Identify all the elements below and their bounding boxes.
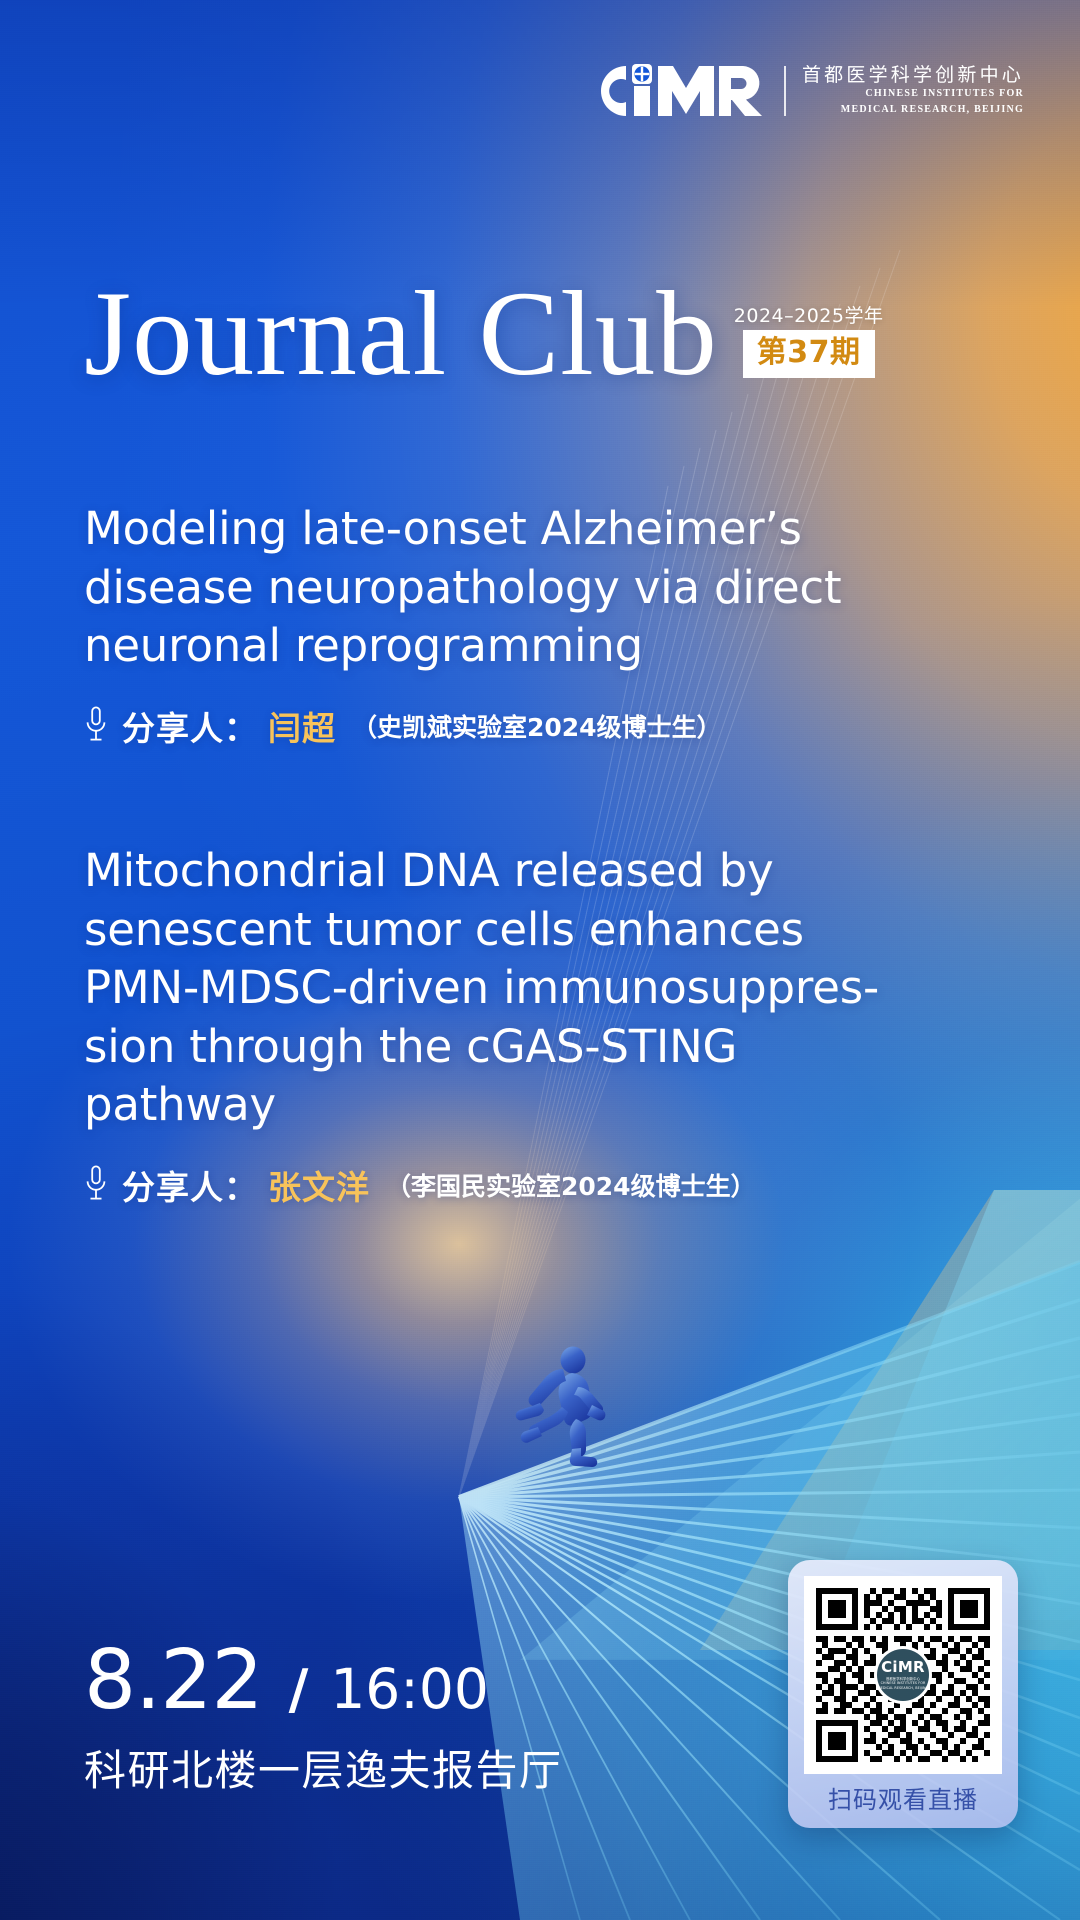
speaker-affiliation-2: （李国民实验室2024级博士生） <box>386 1167 756 1203</box>
speaker-row-1: 分享人： 闫超 （史凯斌实验室2024级博士生） <box>84 702 944 750</box>
qr-code[interactable]: CiMR 首都医学科学创新中心 CHINESE INSTITUTES FOR M… <box>804 1576 1002 1774</box>
qr-caption: 扫码观看直播 <box>828 1774 978 1828</box>
academic-year-label: 2024–2025学年 <box>734 307 884 326</box>
qr-center-logo: CiMR 首都医学科学创新中心 CHINESE INSTITUTES FOR M… <box>877 1649 929 1701</box>
speaker-affiliation-1: （史凯斌实验室2024级博士生） <box>352 708 722 744</box>
speaker-name-1: 闫超 <box>268 702 336 750</box>
logo-divider <box>784 66 786 116</box>
microphone-icon <box>84 706 108 744</box>
qr-center-logo-sub: 首都医学科学创新中心 CHINESE INSTITUTES FOR MEDICA… <box>878 1677 928 1690</box>
logo-english-line-2: MEDICAL RESEARCH, BEIJING <box>802 104 1024 117</box>
livestream-qr-card[interactable]: CiMR 首都医学科学创新中心 CHINESE INSTITUTES FOR M… <box>788 1560 1018 1828</box>
speaker-name-2: 张文洋 <box>268 1161 370 1209</box>
logo-chinese-name: 首都医学科学创新中心 <box>802 66 1024 85</box>
logo-text-block: 首都医学科学创新中心 CHINESE INSTITUTES FOR MEDICA… <box>802 66 1024 117</box>
speaker-row-2: 分享人： 张文洋 （李国民实验室2024级博士生） <box>84 1161 944 1209</box>
microphone-icon <box>84 1165 108 1203</box>
qr-center-logo-main: CiMR <box>881 1660 925 1675</box>
paper-title-2: Mitochondrial DNA released by senescent … <box>84 842 944 1135</box>
speaker-label-1: 分享人： <box>122 702 258 750</box>
logo-english-line-1: CHINESE INSTITUTES FOR <box>802 88 1024 101</box>
event-details: 8.22 / 16:00 科研北楼一层逸夫报告厅 <box>84 1640 563 1792</box>
issue-badge: 2024–2025学年 第37期 <box>734 307 884 378</box>
speaker-label-2: 分享人： <box>122 1161 258 1209</box>
event-venue: 科研北楼一层逸夫报告厅 <box>84 1750 563 1792</box>
datetime-separator: / <box>289 1663 309 1717</box>
running-person-silhouette-icon <box>510 1345 630 1470</box>
event-date: 8.22 <box>84 1640 263 1722</box>
event-time: 16:00 <box>330 1662 489 1717</box>
cimr-logomark-icon <box>582 62 768 120</box>
paper-entry-1: Modeling late-onset Alzheimer’s disease … <box>84 500 944 750</box>
event-datetime: 8.22 / 16:00 <box>84 1640 563 1722</box>
paper-title-1: Modeling late-onset Alzheimer’s disease … <box>84 500 944 676</box>
page-title: Journal Club <box>84 276 718 392</box>
paper-entry-2: Mitochondrial DNA released by senescent … <box>84 842 944 1209</box>
cimr-logo: 首都医学科学创新中心 CHINESE INSTITUTES FOR MEDICA… <box>582 62 1024 120</box>
poster-canvas: 首都医学科学创新中心 CHINESE INSTITUTES FOR MEDICA… <box>0 0 1080 1920</box>
title-row: Journal Club 2024–2025学年 第37期 <box>84 276 884 392</box>
issue-number-label: 第37期 <box>743 330 875 378</box>
